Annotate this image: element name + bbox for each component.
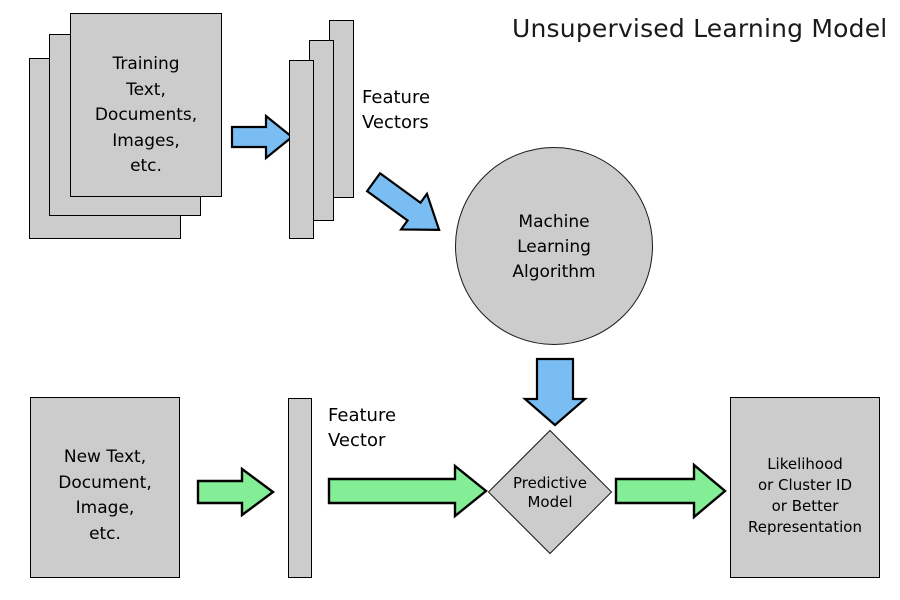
green-arrow-right-short-svg-2	[614, 462, 728, 520]
inference-feature-vector-bar	[288, 398, 312, 578]
page-title: Unsupervised Learning Model	[512, 14, 887, 44]
green-arrow-right-short-svg-1	[196, 466, 276, 518]
feature-vectors-label: Feature Vectors	[362, 85, 430, 135]
blue-arrow-down-svg	[518, 357, 592, 427]
training-input-label: Training Text, Documents, Images, etc.	[71, 52, 221, 180]
green-arrow-right-short-2	[616, 465, 725, 517]
machine-learning-algorithm-node: Machine Learning Algorithm	[455, 147, 653, 345]
blue-arrow-right	[232, 116, 292, 158]
output-label: Likelihood or Cluster ID or Better Repre…	[731, 454, 879, 538]
training-feature-vector-bar-front	[289, 60, 314, 239]
output-box: Likelihood or Cluster ID or Better Repre…	[730, 397, 880, 578]
predictive-model-label: Predictive Model	[488, 474, 612, 512]
blue-arrow-right-svg	[230, 114, 294, 160]
feature-vector-label: Feature Vector	[328, 403, 396, 453]
blue-arrow-diagonal-svg	[370, 160, 460, 240]
blue-arrow-down	[525, 359, 585, 425]
blue-arrow-diagonal	[361, 164, 452, 247]
green-arrow-right-short-1	[198, 469, 273, 515]
training-document-card-front: Training Text, Documents, Images, etc.	[70, 13, 222, 197]
new-input-label: New Text, Document, Image, etc.	[31, 445, 179, 547]
new-input-box: New Text, Document, Image, etc.	[30, 397, 180, 578]
diagram-canvas: Unsupervised Learning Model Training Tex…	[0, 0, 900, 600]
predictive-model-node: Predictive Model	[488, 430, 612, 554]
machine-learning-algorithm-label: Machine Learning Algorithm	[456, 210, 652, 285]
green-arrow-right-long	[329, 466, 486, 516]
green-arrow-right-long-svg	[327, 463, 489, 519]
